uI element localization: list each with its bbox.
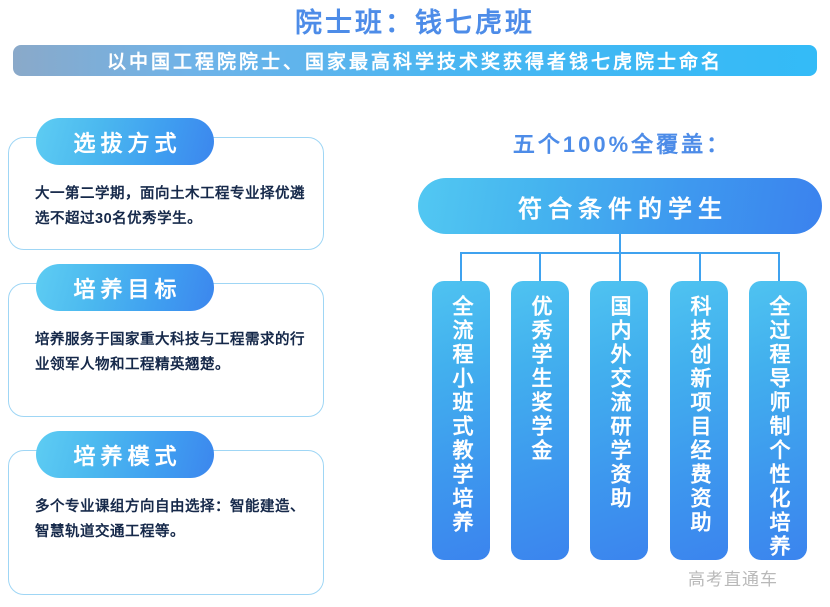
connector-drop-4 — [699, 252, 701, 282]
coverage-column-5: 全过程导师制个性化培养 — [749, 281, 807, 560]
info-card-mode-title: 培养模式 — [68, 439, 181, 471]
coverage-column-5-inner: 全过程导师制个性化培养 — [749, 295, 807, 550]
connector-drop-3 — [619, 252, 621, 282]
coverage-column-2: 优秀学生奖学金 — [511, 281, 569, 560]
coverage-column-1-label: 全流程小班式教学培养 — [432, 295, 490, 535]
info-card-selection-body: 大一第二学期，面向土木工程专业择优遴选不超过30名优秀学生。 — [35, 182, 305, 232]
connector-drop-2 — [539, 252, 541, 282]
coverage-column-3: 国内外交流研学资助 — [590, 281, 648, 560]
info-card-goal-title-pill: 培养目标 — [36, 264, 214, 311]
coverage-column-4-inner: 科技创新项目经费资助 — [670, 295, 728, 550]
coverage-column-5-label: 全过程导师制个性化培养 — [749, 295, 807, 559]
info-card-goal-title: 培养目标 — [68, 272, 181, 304]
connector-stem — [619, 234, 621, 253]
subtitle-banner: 以中国工程院院士、国家最高科学技术奖获得者钱七虎院士命名 — [13, 45, 817, 76]
info-card-mode-body: 多个专业课组方向自由选择：智能建造、智慧轨道交通工程等。 — [35, 495, 305, 545]
subtitle-banner-text: 以中国工程院院士、国家最高科学技术奖获得者钱七虎院士命名 — [107, 47, 723, 74]
coverage-column-1: 全流程小班式教学培养 — [432, 281, 490, 560]
coverage-column-2-label: 优秀学生奖学金 — [511, 295, 569, 463]
coverage-column-4-label: 科技创新项目经费资助 — [670, 295, 728, 535]
root-node-label: 符合条件的学生 — [512, 189, 728, 224]
connector-drop-5 — [778, 252, 780, 282]
coverage-column-2-inner: 优秀学生奖学金 — [511, 295, 569, 550]
connector-drop-1 — [460, 252, 462, 282]
coverage-column-3-inner: 国内外交流研学资助 — [590, 295, 648, 550]
info-card-selection-title-pill: 选拔方式 — [36, 118, 214, 165]
coverage-column-3-label: 国内外交流研学资助 — [590, 295, 648, 511]
page-title: 院士班：钱七虎班 — [0, 6, 830, 40]
info-card-goal-body: 培养服务于国家重大科技与工程需求的行业领军人物和工程精英翘楚。 — [35, 328, 305, 378]
coverage-column-4: 科技创新项目经费资助 — [670, 281, 728, 560]
info-card-selection-title: 选拔方式 — [68, 126, 181, 158]
coverage-heading: 五个100%全覆盖： — [420, 127, 824, 159]
infographic-root: 院士班：钱七虎班 以中国工程院院士、国家最高科学技术奖获得者钱七虎院士命名 大一… — [0, 0, 830, 607]
root-node-eligible-students: 符合条件的学生 — [418, 178, 822, 234]
info-card-mode-title-pill: 培养模式 — [36, 431, 214, 478]
watermark: 高考直通车 — [688, 565, 778, 590]
coverage-column-1-inner: 全流程小班式教学培养 — [432, 295, 490, 550]
